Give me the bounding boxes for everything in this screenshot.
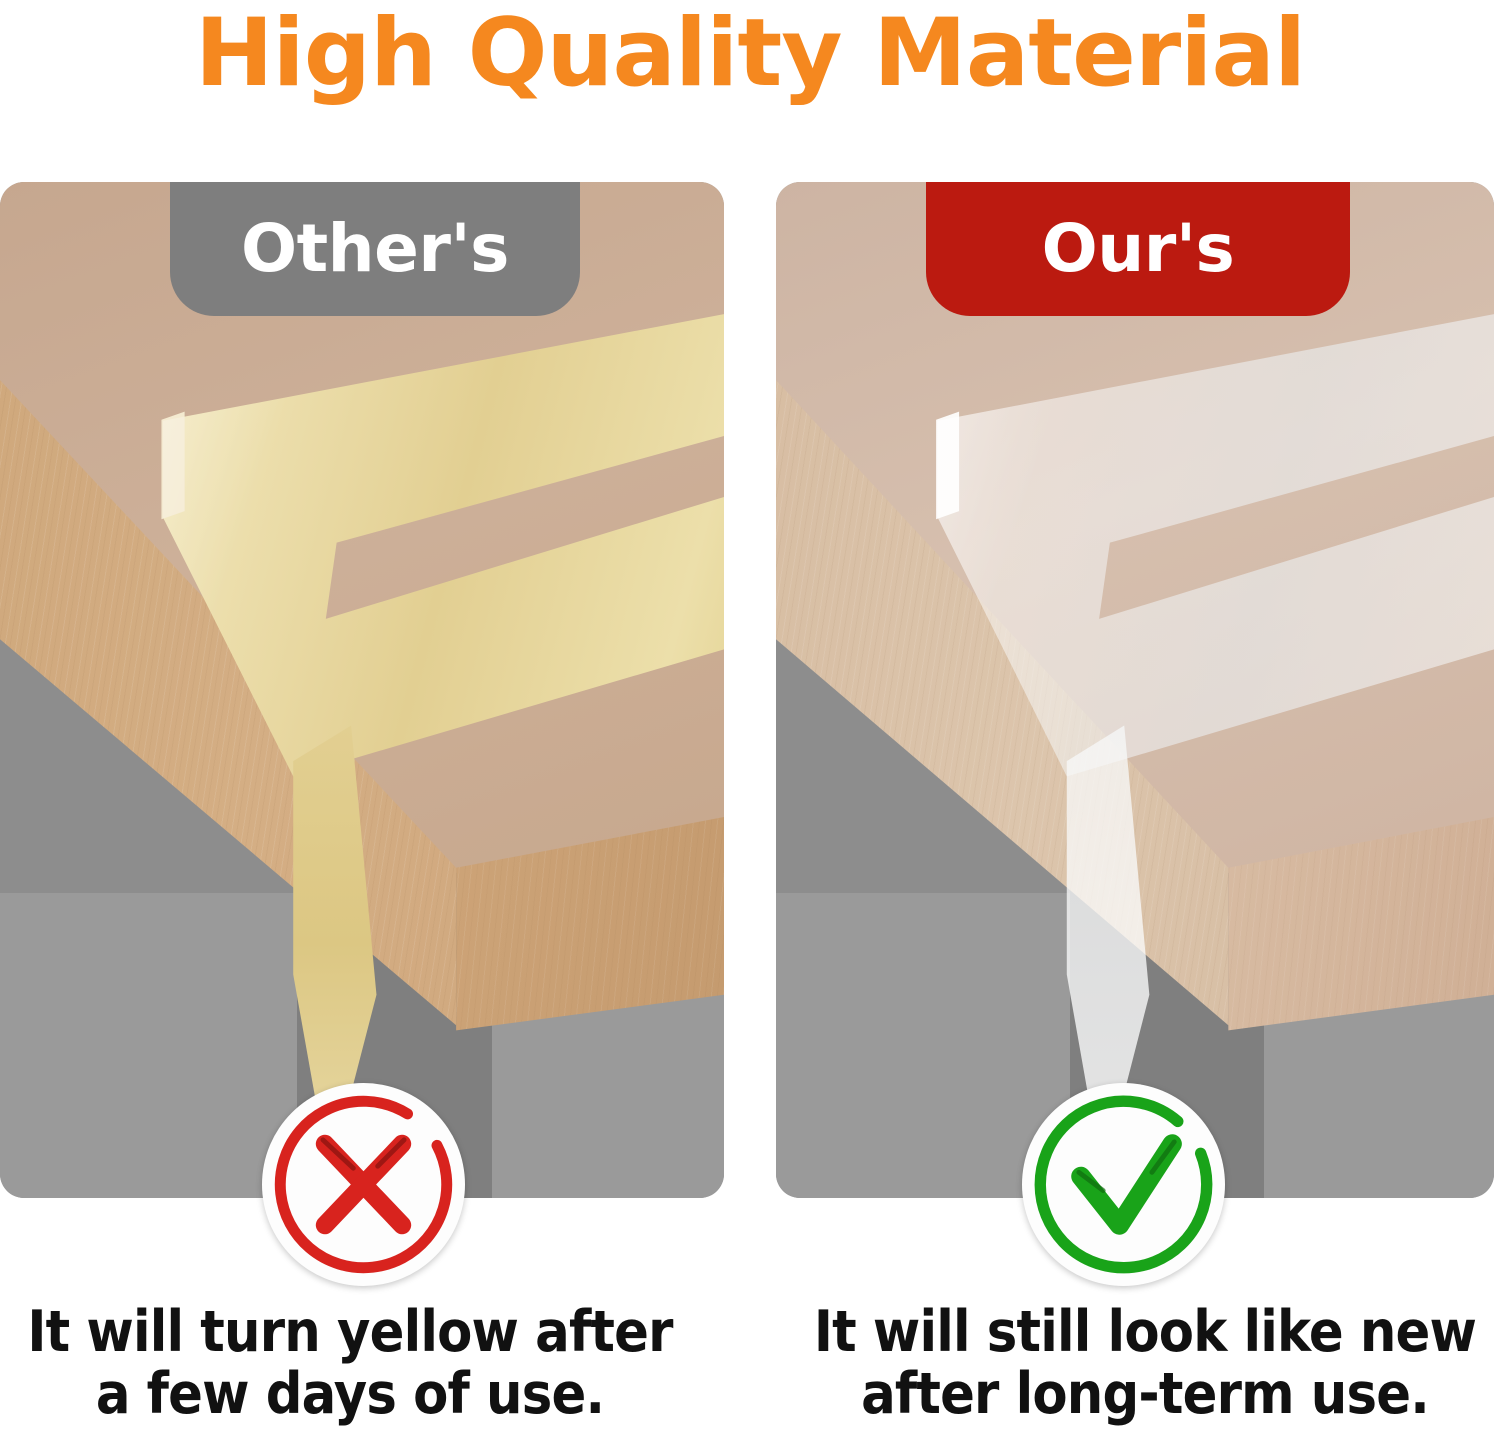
caption-others-line2: a few days of use. <box>0 1363 700 1425</box>
caption-ours: It will still look like new after long-t… <box>790 1301 1500 1425</box>
badge-ours: Our's <box>926 182 1350 316</box>
page-title: High Quality Material <box>0 2 1500 106</box>
photo-ours <box>776 182 1494 1198</box>
cross-mark-badge <box>262 1083 465 1286</box>
caption-ours-line2: after long-term use. <box>790 1363 1500 1425</box>
photo-others <box>0 182 724 1198</box>
cross-mark-icon <box>262 1083 465 1286</box>
panel-others: Other's <box>0 182 724 1198</box>
caption-others-line1: It will turn yellow after <box>0 1301 700 1363</box>
caption-ours-line1: It will still look like new <box>790 1301 1500 1363</box>
check-mark-badge <box>1022 1083 1225 1286</box>
caption-others: It will turn yellow after a few days of … <box>0 1301 700 1425</box>
infographic-page: High Quality Material Other's <box>0 0 1500 1433</box>
panel-ours: Our's <box>776 182 1494 1198</box>
comparison-panels: Other's Our's <box>0 182 1500 1198</box>
badge-others: Other's <box>170 182 580 316</box>
check-mark-icon <box>1022 1083 1225 1286</box>
